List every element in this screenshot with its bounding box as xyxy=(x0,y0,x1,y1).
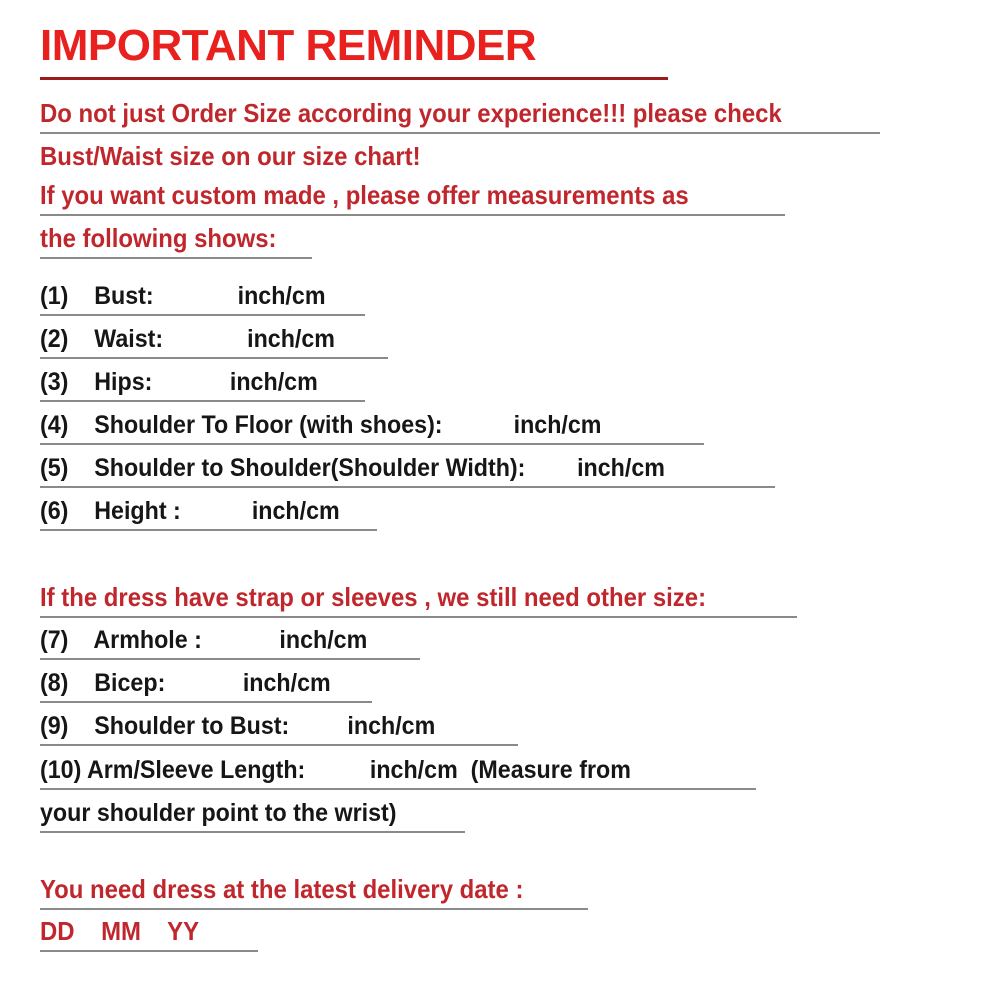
reminder-document: IMPORTANT REMINDER Do not just Order Siz… xyxy=(0,0,1000,1000)
measurement-item-2: (2) Waist: inch/cm xyxy=(40,326,388,359)
intro-line-4: the following shows: xyxy=(40,225,312,259)
sleeve-section-heading-text: If the dress have strap or sleeves , we … xyxy=(40,584,706,612)
measurement-item-1: (1) Bust: inch/cm xyxy=(40,283,365,316)
intro-line-1: Do not just Order Size according your ex… xyxy=(40,100,880,134)
intro-line-2-text: Bust/Waist size on our size chart! xyxy=(40,143,421,171)
delivery-date-fields-text: DD MM YY xyxy=(40,918,199,946)
measurement-item-6: (6) Height : inch/cm xyxy=(40,498,377,531)
measurement-item-9-text: (9) Shoulder to Bust: inch/cm xyxy=(40,713,435,740)
measurement-item-1-underline xyxy=(40,314,365,316)
intro-line-1-underline xyxy=(40,132,880,134)
page-title: IMPORTANT REMINDER xyxy=(40,22,668,80)
page-title-underline xyxy=(40,77,668,80)
measurement-item-9: (9) Shoulder to Bust: inch/cm xyxy=(40,713,518,746)
delivery-date-heading-text: You need dress at the latest delivery da… xyxy=(40,876,523,904)
measurement-item-6-text: (6) Height : inch/cm xyxy=(40,498,340,525)
measurement-item-8-text: (8) Bicep: inch/cm xyxy=(40,670,331,697)
measurement-item-3-text: (3) Hips: inch/cm xyxy=(40,369,318,396)
delivery-date-fields-underline xyxy=(40,950,258,952)
measurement-item-10-continuation: your shoulder point to the wrist) xyxy=(40,800,465,833)
measurement-item-7: (7) Armhole : inch/cm xyxy=(40,627,420,660)
page-title-text: IMPORTANT REMINDER xyxy=(40,22,668,70)
delivery-date-heading: You need dress at the latest delivery da… xyxy=(40,876,588,910)
measurement-item-8-underline xyxy=(40,701,372,703)
intro-line-3-underline xyxy=(40,214,785,216)
measurement-item-9-underline xyxy=(40,744,518,746)
measurement-item-10: (10) Arm/Sleeve Length: inch/cm (Measure… xyxy=(40,757,756,790)
measurement-item-1-text: (1) Bust: inch/cm xyxy=(40,283,325,310)
intro-line-4-underline xyxy=(40,257,312,259)
sleeve-section-heading: If the dress have strap or sleeves , we … xyxy=(40,584,797,618)
measurement-item-2-text: (2) Waist: inch/cm xyxy=(40,326,335,353)
measurement-item-3-underline xyxy=(40,400,365,402)
measurement-item-10-text: (10) Arm/Sleeve Length: inch/cm (Measure… xyxy=(40,757,631,784)
measurement-item-10-continuation-underline xyxy=(40,831,465,833)
measurement-item-10-underline xyxy=(40,788,756,790)
measurement-item-5: (5) Shoulder to Shoulder(Shoulder Width)… xyxy=(40,455,775,488)
intro-line-2: Bust/Waist size on our size chart! xyxy=(40,143,454,171)
measurement-item-5-underline xyxy=(40,486,775,488)
measurement-item-4-underline xyxy=(40,443,704,445)
intro-line-1-text: Do not just Order Size according your ex… xyxy=(40,100,782,128)
measurement-item-7-text: (7) Armhole : inch/cm xyxy=(40,627,367,654)
intro-line-3-text: If you want custom made , please offer m… xyxy=(40,182,689,210)
sleeve-section-heading-underline xyxy=(40,616,797,618)
measurement-item-3: (3) Hips: inch/cm xyxy=(40,369,365,402)
measurement-item-5-text: (5) Shoulder to Shoulder(Shoulder Width)… xyxy=(40,455,665,482)
measurement-item-7-underline xyxy=(40,658,420,660)
measurement-item-2-underline xyxy=(40,357,388,359)
measurement-item-10-continuation-text: your shoulder point to the wrist) xyxy=(40,800,396,827)
measurement-item-6-underline xyxy=(40,529,377,531)
delivery-date-fields[interactable]: DD MM YY xyxy=(40,918,258,952)
delivery-date-heading-underline xyxy=(40,908,588,910)
intro-line-4-text: the following shows: xyxy=(40,225,277,253)
measurement-item-8: (8) Bicep: inch/cm xyxy=(40,670,372,703)
measurement-item-4-text: (4) Shoulder To Floor (with shoes): inch… xyxy=(40,412,601,439)
measurement-item-4: (4) Shoulder To Floor (with shoes): inch… xyxy=(40,412,704,445)
intro-line-3: If you want custom made , please offer m… xyxy=(40,182,785,216)
